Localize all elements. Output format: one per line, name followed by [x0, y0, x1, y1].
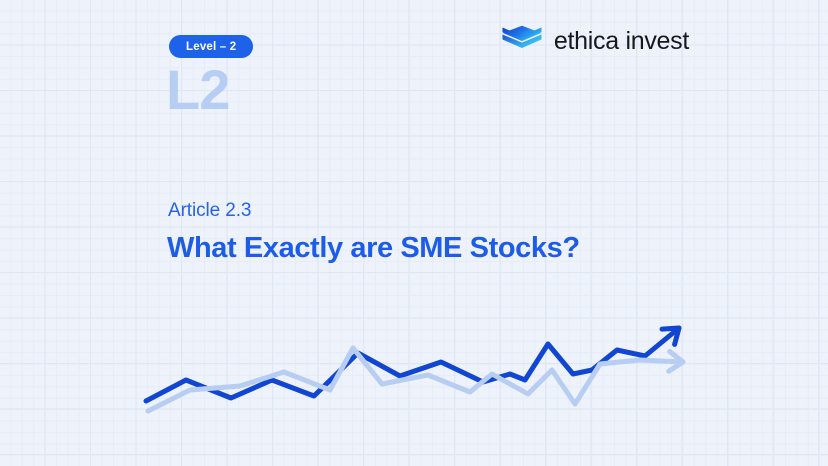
level-badge: Level – 2: [169, 35, 253, 58]
chart-line-secondary-trend: [148, 348, 683, 411]
slide-content: Level – 2 L2: [0, 0, 828, 466]
trend-chart-illustration: [0, 300, 828, 466]
level-heading: L2: [166, 62, 229, 118]
article-label: Article 2.3: [168, 200, 251, 222]
brand-logo: ethica invest: [501, 25, 689, 57]
ethica-chevron-logo-icon: [501, 25, 543, 57]
page-title: What Exactly are SME Stocks?: [167, 232, 580, 265]
brand-wordmark: ethica invest: [554, 29, 689, 54]
level-badge-label: Level – 2: [186, 41, 236, 53]
